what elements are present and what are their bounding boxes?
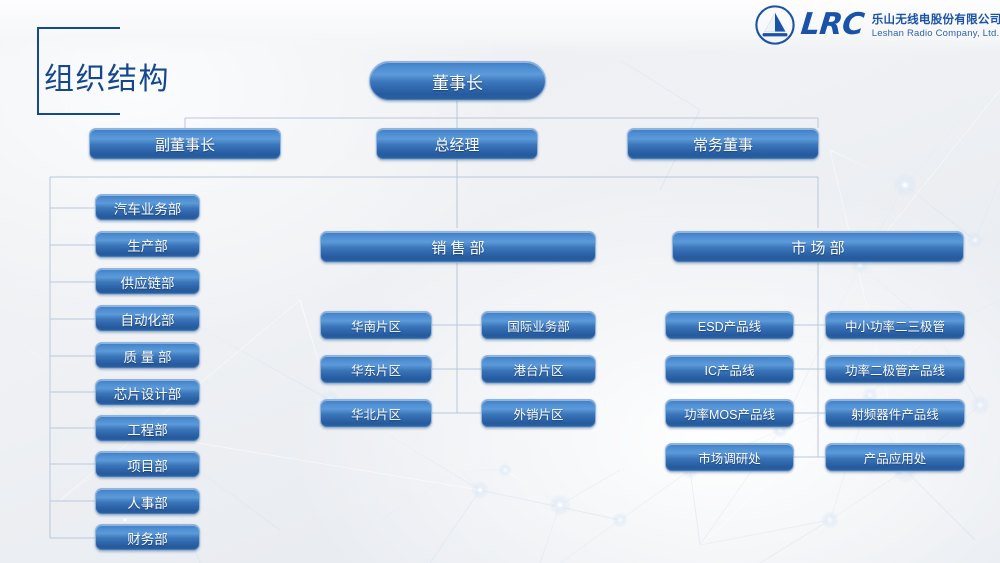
node-marketing-ic-product-line[interactable]: IC产品线 [665, 355, 794, 384]
node-dept-engineering[interactable]: 工程部 [95, 415, 200, 442]
slide-canvas: LRC 乐山无线电股份有限公司 Leshan Radio Company, Lt… [0, 0, 1000, 563]
node-marketing[interactable]: 市 场 部 [672, 231, 964, 263]
node-dept-quality[interactable]: 质 量 部 [95, 342, 200, 369]
node-executive-director[interactable]: 常务董事 [627, 128, 819, 160]
node-sales-east-china-region[interactable]: 华东片区 [320, 355, 432, 384]
node-marketing-product-application-office[interactable]: 产品应用处 [825, 443, 965, 472]
node-marketing-rf-device-product-line[interactable]: 射频器件产品线 [825, 399, 965, 428]
node-dept-supply-chain[interactable]: 供应链部 [95, 268, 200, 295]
node-vice-chairman[interactable]: 副董事长 [89, 128, 281, 160]
node-dept-project[interactable]: 项目部 [95, 451, 200, 478]
node-dept-finance[interactable]: 财务部 [95, 524, 200, 551]
node-dept-chip-design[interactable]: 芯片设计部 [95, 379, 200, 406]
node-sales[interactable]: 销 售 部 [320, 231, 596, 263]
node-dept-auto-business[interactable]: 汽车业务部 [95, 194, 200, 221]
node-sales-export-region[interactable]: 外销片区 [481, 399, 596, 428]
node-sales-hk-tw-region[interactable]: 港台片区 [481, 355, 596, 384]
node-marketing-power-diode-product-line[interactable]: 功率二极管产品线 [825, 355, 965, 384]
node-sales-north-china-region[interactable]: 华北片区 [320, 399, 432, 428]
node-dept-hr[interactable]: 人事部 [95, 488, 200, 515]
node-marketing-esd-product-line[interactable]: ESD产品线 [665, 311, 794, 340]
node-general-manager[interactable]: 总经理 [376, 128, 538, 160]
node-marketing-small-medium-power-transistor[interactable]: 中小功率二三极管 [825, 311, 965, 340]
node-dept-automation[interactable]: 自动化部 [95, 305, 200, 332]
node-dept-production[interactable]: 生产部 [95, 231, 200, 258]
node-chairman[interactable]: 董事长 [369, 61, 546, 101]
node-sales-international-business[interactable]: 国际业务部 [481, 311, 596, 340]
node-marketing-power-mos-product-line[interactable]: 功率MOS产品线 [665, 399, 794, 428]
node-sales-south-china-region[interactable]: 华南片区 [320, 311, 432, 340]
node-marketing-market-research-office[interactable]: 市场调研处 [665, 443, 794, 472]
